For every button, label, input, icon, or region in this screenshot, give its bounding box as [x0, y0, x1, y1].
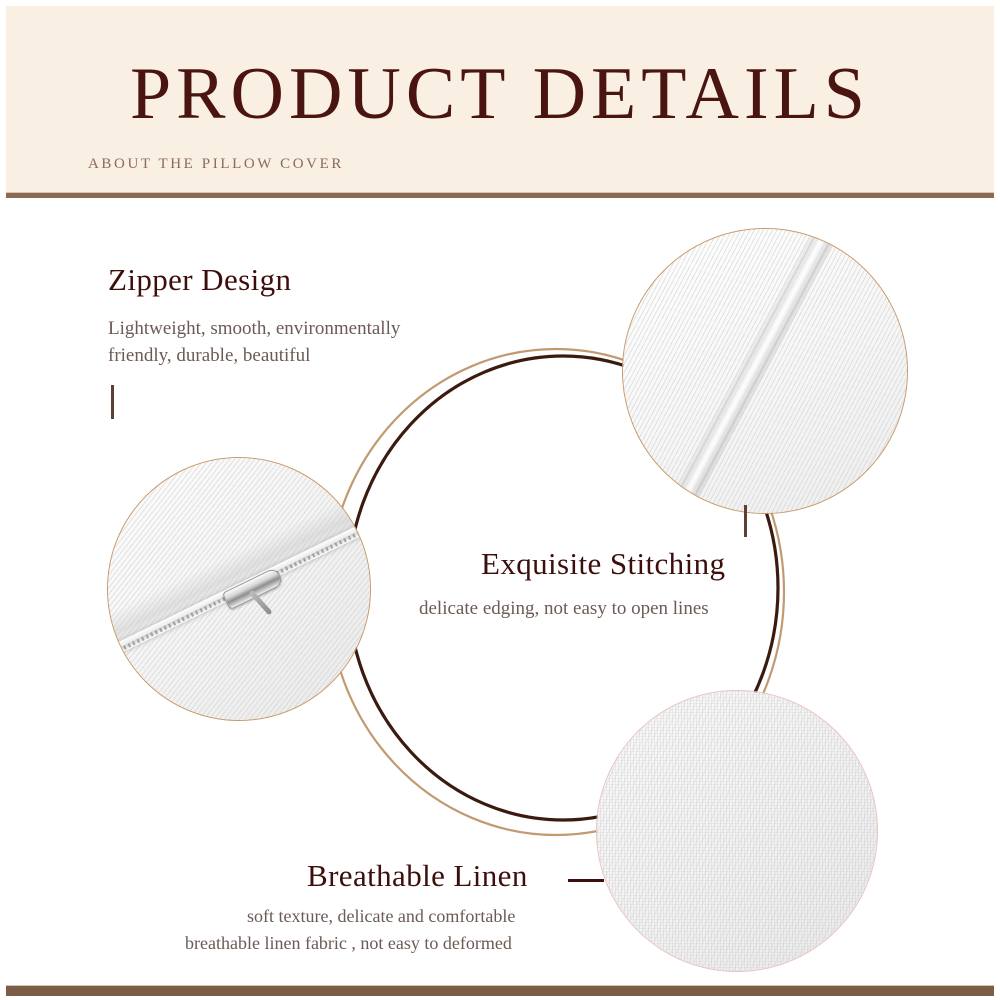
feature-heading-stitching: Exquisite Stitching — [481, 546, 725, 582]
zipper-pull-tab — [249, 589, 273, 615]
feature-description-zipper-line-1: Lightweight, smooth, environmentally — [108, 318, 400, 340]
page-subtitle: ABOUT THE PILLOW COVER — [88, 156, 344, 173]
feature-heading-zipper: Zipper Design — [108, 262, 291, 298]
feature-heading-linen: Breathable Linen — [307, 858, 528, 894]
feature-description-linen-line-2: breathable linen fabric , not easy to de… — [185, 933, 512, 954]
em-dash-connector-icon — [568, 879, 604, 882]
feature-description-linen-line-1: soft texture, delicate and comfortable — [247, 906, 515, 927]
page-title: PRODUCT DETAILS — [6, 54, 994, 134]
header-banner: PRODUCT DETAILS ABOUT THE PILLOW COVER — [6, 6, 994, 192]
feature-description-zipper-line-2: friendly, durable, beautiful — [108, 345, 310, 367]
accent-tick-zipper — [111, 385, 114, 419]
footer-divider-rule — [6, 985, 994, 996]
fabric-seam-texture — [623, 229, 907, 513]
zipper-closeup-photo — [107, 457, 371, 721]
product-details-infographic: PRODUCT DETAILS ABOUT THE PILLOW COVER Z… — [0, 0, 1000, 1000]
feature-description-stitching-line-1: delicate edging, not easy to open lines — [419, 598, 709, 620]
linen-fabric-closeup-photo — [596, 690, 878, 972]
fabric-twill-texture — [108, 458, 370, 720]
linen-weave-texture — [597, 691, 877, 971]
seam-stitching-closeup-photo — [622, 228, 908, 514]
accent-tick-stitching — [744, 505, 747, 537]
